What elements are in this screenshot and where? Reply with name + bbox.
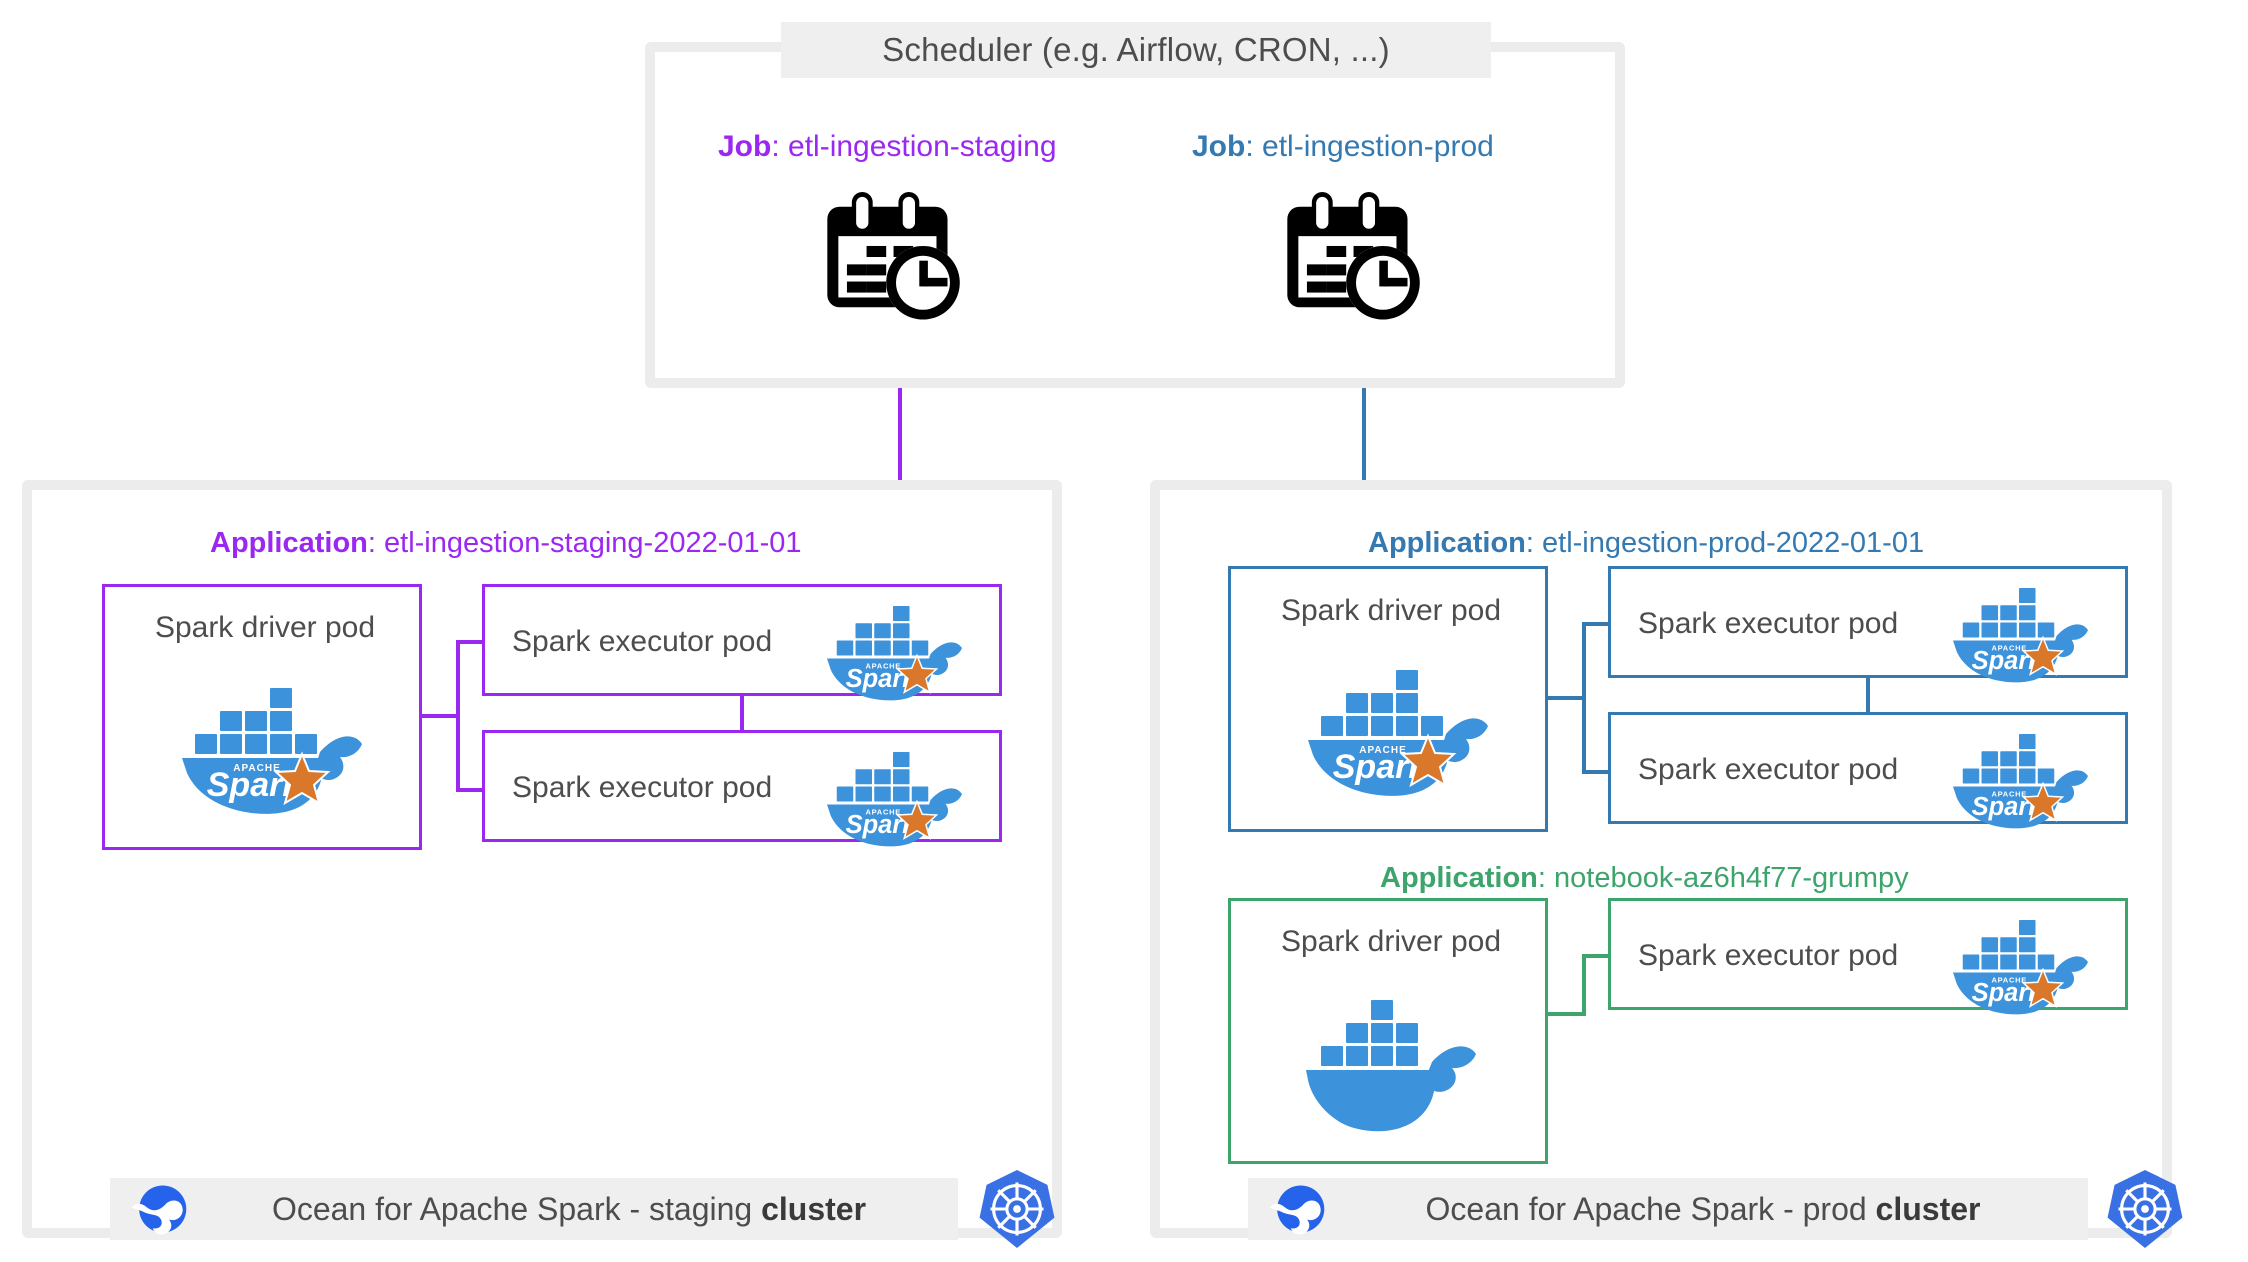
connector-segment bbox=[456, 788, 484, 792]
application-title-prod: Application: etl-ingestion-prod-2022-01-… bbox=[1368, 527, 1924, 560]
application-separator: : bbox=[1538, 862, 1554, 894]
cluster-footer-staging: Ocean for Apache Spark - staging cluster bbox=[110, 1178, 958, 1240]
application-prefix: Application bbox=[1368, 527, 1526, 559]
cluster-footer-prefix: Ocean for Apache Spark - staging bbox=[272, 1191, 761, 1227]
connector-segment bbox=[1548, 696, 1586, 700]
pod-label-driver: Spark driver pod bbox=[140, 611, 390, 645]
docker-spark-whale-icon bbox=[1938, 905, 2088, 1030]
connector-segment bbox=[422, 714, 460, 718]
pod-label-executor: Spark executor pod bbox=[512, 625, 772, 659]
application-separator: : bbox=[1526, 527, 1542, 559]
application-separator: : bbox=[368, 527, 384, 559]
application-name: notebook-az6h4f77-grumpy bbox=[1554, 862, 1909, 894]
docker-spark-whale-icon bbox=[1938, 719, 2088, 844]
docker-spark-whale-icon bbox=[812, 737, 962, 862]
docker-whale-icon bbox=[1288, 980, 1488, 1145]
arrow-line-prod bbox=[1362, 388, 1366, 492]
job-prefix: Job bbox=[718, 130, 771, 163]
docker-spark-whale-icon bbox=[1938, 573, 2088, 698]
connector-segment bbox=[1582, 622, 1610, 626]
connector-segment bbox=[1548, 1012, 1586, 1016]
job-name: etl-ingestion-staging bbox=[788, 130, 1057, 163]
job-separator: : bbox=[1245, 130, 1262, 163]
ocean-logo-icon bbox=[128, 1178, 190, 1240]
pod-label-executor: Spark executor pod bbox=[512, 771, 772, 805]
cluster-footer-bold: cluster bbox=[761, 1191, 866, 1227]
cluster-footer-prefix: Ocean for Apache Spark - prod bbox=[1426, 1191, 1876, 1227]
calendar-clock-icon bbox=[1282, 192, 1430, 322]
kubernetes-icon bbox=[978, 1168, 1056, 1250]
pod-label-executor: Spark executor pod bbox=[1638, 939, 1898, 973]
job-name: etl-ingestion-prod bbox=[1262, 130, 1494, 163]
pod-label-executor: Spark executor pod bbox=[1638, 753, 1898, 787]
job-label-staging: Job: etl-ingestion-staging bbox=[718, 130, 1057, 164]
docker-spark-whale-icon bbox=[1288, 650, 1488, 815]
connector-segment bbox=[1582, 770, 1610, 774]
scheduler-title: Scheduler (e.g. Airflow, CRON, ...) bbox=[781, 22, 1491, 78]
scheduler-container bbox=[645, 42, 1625, 388]
connector-segment bbox=[740, 694, 744, 732]
connector-segment bbox=[1582, 954, 1586, 1016]
ocean-logo-icon bbox=[1266, 1178, 1328, 1240]
pod-label-driver: Spark driver pod bbox=[1266, 925, 1516, 959]
cluster-footer-label: Ocean for Apache Spark - staging cluster bbox=[190, 1191, 958, 1228]
application-name: etl-ingestion-staging-2022-01-01 bbox=[384, 527, 802, 559]
docker-spark-whale-icon bbox=[812, 591, 962, 716]
connector-segment bbox=[456, 640, 484, 644]
cluster-footer-bold: cluster bbox=[1876, 1191, 1981, 1227]
connector-segment bbox=[1582, 954, 1610, 958]
calendar-clock-icon bbox=[822, 192, 970, 322]
application-name: etl-ingestion-prod-2022-01-01 bbox=[1542, 527, 1924, 559]
docker-spark-whale-icon bbox=[162, 668, 362, 833]
cluster-footer-label: Ocean for Apache Spark - prod cluster bbox=[1328, 1191, 2088, 1228]
application-title-staging: Application: etl-ingestion-staging-2022-… bbox=[210, 527, 802, 560]
connector-segment bbox=[1582, 622, 1586, 774]
application-prefix: Application bbox=[1380, 862, 1538, 894]
job-prefix: Job bbox=[1192, 130, 1245, 163]
cluster-footer-prod: Ocean for Apache Spark - prod cluster bbox=[1248, 1178, 2088, 1240]
connector-segment bbox=[456, 640, 460, 792]
job-separator: : bbox=[771, 130, 788, 163]
pod-label-executor: Spark executor pod bbox=[1638, 607, 1898, 641]
job-label-prod: Job: etl-ingestion-prod bbox=[1192, 130, 1494, 164]
application-prefix: Application bbox=[210, 527, 368, 559]
application-title-notebook: Application: notebook-az6h4f77-grumpy bbox=[1380, 862, 1909, 895]
arrow-line-staging bbox=[898, 388, 902, 492]
connector-segment bbox=[1866, 676, 1870, 714]
kubernetes-icon bbox=[2106, 1168, 2184, 1250]
pod-label-driver: Spark driver pod bbox=[1266, 594, 1516, 628]
